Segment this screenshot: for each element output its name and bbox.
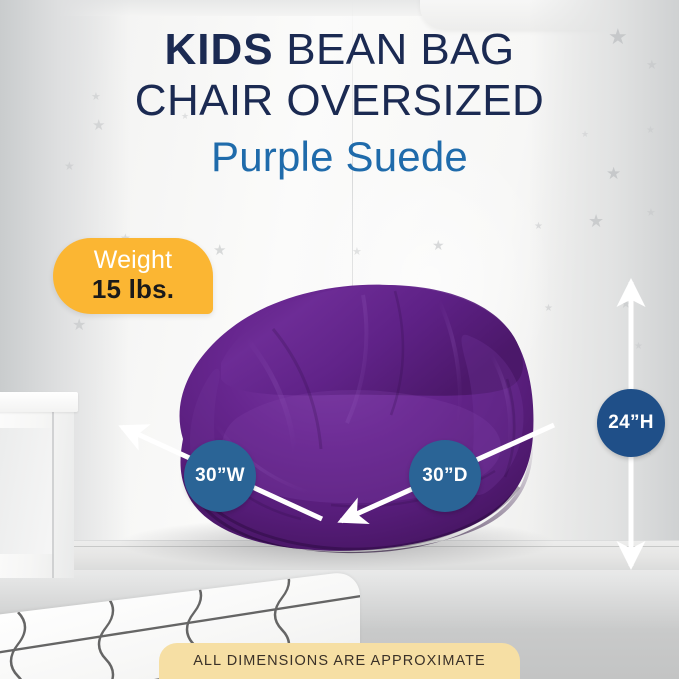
headline-line-2: CHAIR OVERSIZED	[0, 75, 679, 126]
weight-badge: Weight 15 lbs.	[53, 238, 213, 314]
headline-kids: KIDS	[165, 25, 274, 74]
product-infographic: ★ ★ ★ ★ ★ ★ ★ ★ ★ ★ ★ ★ ★ ★ ★ ★ ★ ★ ★ ★ …	[0, 0, 679, 679]
width-badge: 30”W	[184, 440, 256, 512]
height-badge: 24”H	[597, 389, 665, 457]
disclaimer-banner: ALL DIMENSIONS ARE APPROXIMATE	[159, 643, 520, 679]
weight-value: 15 lbs.	[92, 274, 174, 305]
headline-bean-bag: BEAN BAG	[274, 25, 515, 74]
depth-badge: 30”D	[409, 440, 481, 512]
headline-line-1: KIDS BEAN BAG	[0, 24, 679, 75]
headline-line-3: Purple Suede	[0, 132, 679, 182]
left-furniture	[0, 392, 78, 578]
page-title: KIDS BEAN BAG CHAIR OVERSIZED Purple Sue…	[0, 24, 679, 182]
disclaimer-text: ALL DIMENSIONS ARE APPROXIMATE	[193, 653, 486, 669]
weight-label: Weight	[94, 247, 173, 273]
